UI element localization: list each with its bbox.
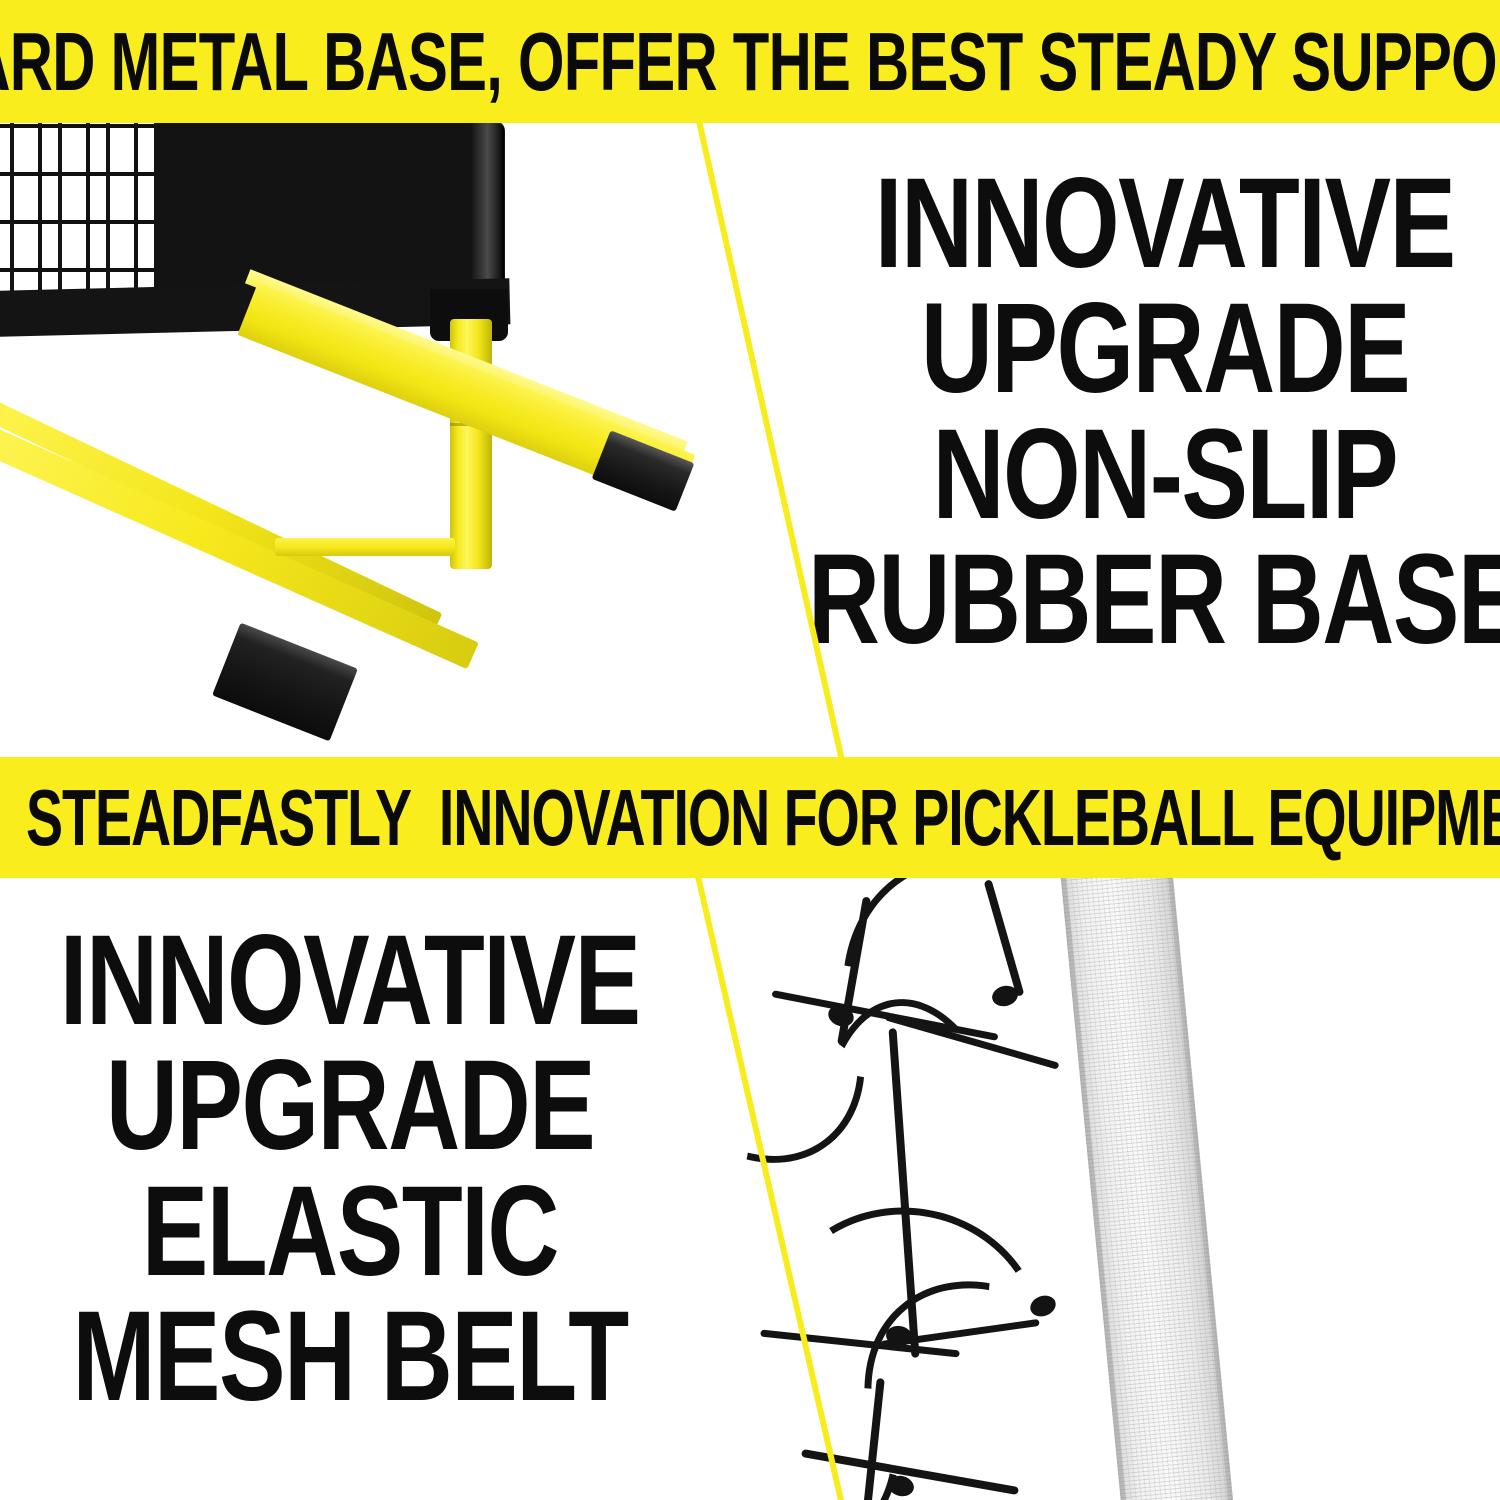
rubber-end-cap-near (212, 623, 358, 742)
mesh-belt-headline: INNOVATIVE UPGRADE ELASTIC MESH BELT (30, 918, 670, 1420)
top-banner: HARD METAL BASE, OFFER THE BEST STEADY S… (0, 0, 1500, 123)
headline-line-1: INNOVATIVE (60, 918, 640, 1043)
headline-line-2: UPGRADE (106, 1043, 594, 1168)
headline-line-4: RUBBER BASE (807, 537, 1500, 662)
product-feature-poster: HARD METAL BASE, OFFER THE BEST STEADY S… (0, 0, 1500, 1500)
headline-line-2: UPGRADE (921, 286, 1409, 411)
middle-banner-text: STEADFASTLY INNOVATION FOR PICKLEBALL EQ… (26, 778, 1500, 858)
top-feature-panel: INNOVATIVE UPGRADE NON-SLIP RUBBER BASE (0, 123, 1500, 757)
headline-line-3: ELASTIC (142, 1169, 558, 1294)
headline-line-4: MESH BELT (72, 1294, 627, 1419)
middle-banner: STEADFASTLY INNOVATION FOR PICKLEBALL EQ… (0, 757, 1500, 878)
headline-line-3: NON-SLIP (933, 412, 1398, 537)
yellow-brace-bar-icon (275, 538, 455, 556)
net-black-post-panel (155, 123, 505, 306)
net-metal-base-photo (0, 123, 700, 757)
top-banner-text: HARD METAL BASE, OFFER THE BEST STEADY S… (0, 20, 1500, 103)
headline-line-1: INNOVATIVE (875, 161, 1455, 286)
rubber-base-headline: INNOVATIVE UPGRADE NON-SLIP RUBBER BASE (855, 161, 1475, 663)
bottom-feature-panel: INNOVATIVE UPGRADE ELASTIC MESH BELT (0, 878, 1500, 1500)
